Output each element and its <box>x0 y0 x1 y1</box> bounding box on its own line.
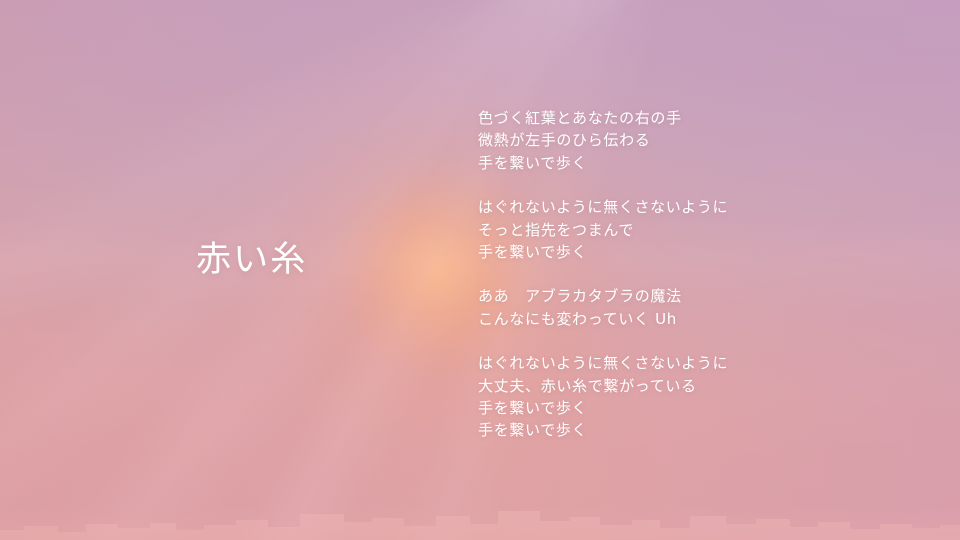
lyric-line: 手を繋いで歩く <box>478 397 898 419</box>
lyric-line: はぐれないように無くさないように <box>478 352 898 374</box>
lyric-stanza: はぐれないように無くさないように そっと指先をつまんで 手を繋いで歩く <box>478 196 898 263</box>
lyric-line: 手を繋いで歩く <box>478 152 898 174</box>
lyric-line: 大丈夫、赤い糸で繋がっている <box>478 375 898 397</box>
city-skyline-silhouette <box>0 494 960 540</box>
song-title: 赤い糸 <box>196 240 307 281</box>
lyric-line: 手を繋いで歩く <box>478 419 898 441</box>
lyric-stanza: 色づく紅葉とあなたの右の手 微熱が左手のひら伝わる 手を繋いで歩く <box>478 107 898 174</box>
lyric-line: 色づく紅葉とあなたの右の手 <box>478 107 898 129</box>
lyric-stanza: はぐれないように無くさないように 大丈夫、赤い糸で繋がっている 手を繋いで歩く … <box>478 352 898 442</box>
lyric-line: 手を繋いで歩く <box>478 241 898 263</box>
lyric-video-frame: 赤い糸 色づく紅葉とあなたの右の手 微熱が左手のひら伝わる 手を繋いで歩く はぐ… <box>0 0 960 540</box>
lyric-line: ああ アブラカタブラの魔法 <box>478 285 898 307</box>
lyric-line: そっと指先をつまんで <box>478 219 898 241</box>
lyric-line: こんなにも変わっていく Uh <box>478 308 898 330</box>
lyric-stanza: ああ アブラカタブラの魔法 こんなにも変わっていく Uh <box>478 285 898 330</box>
ground-haze <box>0 506 960 540</box>
lyric-line: 微熱が左手のひら伝わる <box>478 129 898 151</box>
lyric-line: はぐれないように無くさないように <box>478 196 898 218</box>
lyrics-block: 色づく紅葉とあなたの右の手 微熱が左手のひら伝わる 手を繋いで歩く はぐれないよ… <box>478 107 898 442</box>
